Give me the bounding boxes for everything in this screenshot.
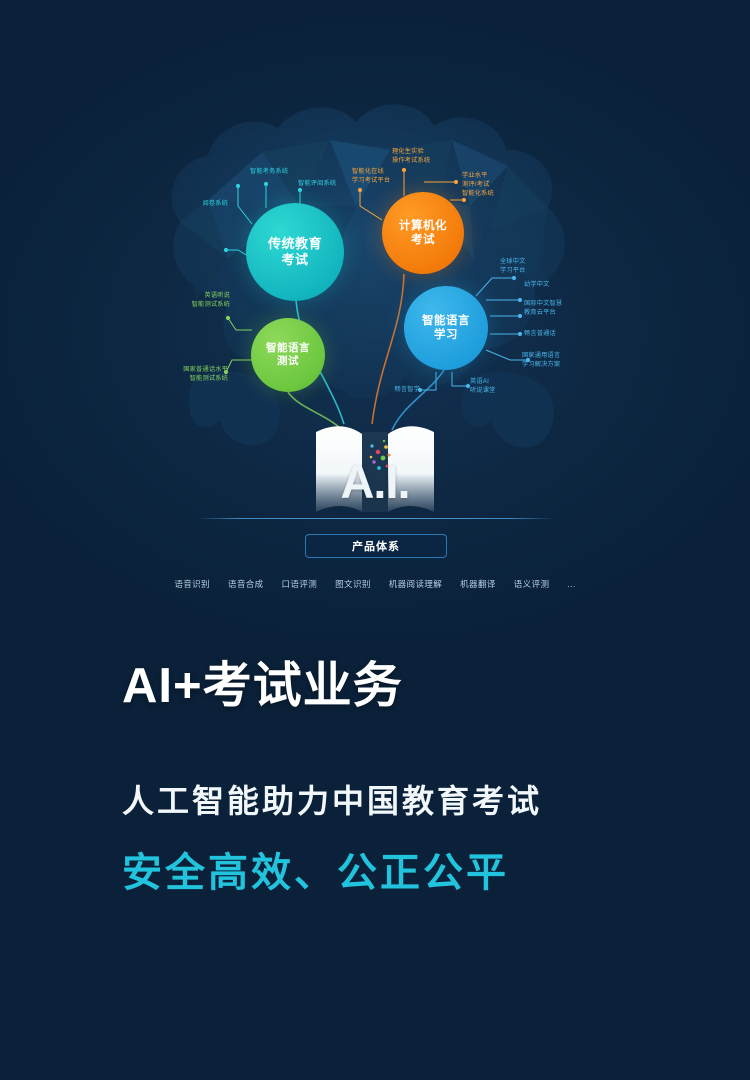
bubble-smart-language-learning-line1: 智能语言	[422, 314, 470, 328]
leaf-label-language-learning-2[interactable]: 国际中文智慧 教育云平台	[524, 300, 562, 318]
leaf-label-traditional-0[interactable]: 阅卷系统	[192, 200, 228, 209]
leaf-label-language-learning-1[interactable]: 幼学中文	[524, 281, 550, 290]
poster-canvas: 传统教育 考试 计算机化 考试 智能语言 学习 智能语言 测试 阅卷系统 智能考…	[0, 0, 750, 1080]
page-title: AI+考试业务	[122, 660, 750, 714]
bubble-traditional-exam-line2: 考试	[281, 252, 308, 268]
bubble-smart-language-testing-line2: 测试	[277, 355, 299, 368]
brain-infographic: 传统教育 考试 计算机化 考试 智能语言 学习 智能语言 测试 阅卷系统 智能考…	[0, 0, 750, 640]
leaf-label-language-learning-0[interactable]: 全球中文 学习平台	[500, 258, 526, 276]
tag-5[interactable]: 机器翻译	[460, 578, 496, 590]
leaf-label-computerized-0[interactable]: 智能化在线 学习考试平台	[352, 168, 390, 186]
bubble-smart-language-learning-line2: 学习	[434, 328, 458, 342]
subtitle-primary: 人工智能助力中国教育考试	[122, 776, 750, 822]
tag-3[interactable]: 图文识别	[335, 578, 371, 590]
tag-6[interactable]: 语义评测	[514, 578, 550, 590]
bubble-computerized-exam-line2: 考试	[411, 233, 435, 247]
leaf-label-language-learning-4[interactable]: 国家通用语言 学习解决方案	[522, 352, 560, 370]
bubble-traditional-exam[interactable]: 传统教育 考试	[246, 203, 344, 301]
bubble-computerized-exam[interactable]: 计算机化 考试	[382, 192, 464, 274]
tag-4[interactable]: 机器阅读理解	[389, 578, 442, 590]
tag-0[interactable]: 语音识别	[174, 578, 210, 590]
leaf-label-traditional-2[interactable]: 智能评阅系统	[298, 180, 336, 189]
leaf-label-traditional-1[interactable]: 智能考务系统	[250, 168, 288, 177]
product-system-badge[interactable]: 产品体系	[305, 534, 447, 558]
bubble-smart-language-testing[interactable]: 智能语言 测试	[251, 318, 325, 392]
section-divider	[196, 518, 554, 519]
bubble-traditional-exam-line1: 传统教育	[268, 236, 322, 252]
leaf-label-language-learning-5[interactable]: 畅言智学	[386, 386, 420, 395]
leaf-label-language-testing-0[interactable]: 英语听说 智能测试系统	[178, 292, 230, 310]
tag-2[interactable]: 口语评测	[282, 578, 318, 590]
tag-7[interactable]: ...	[567, 579, 575, 589]
bubble-smart-language-testing-line1: 智能语言	[266, 342, 310, 355]
leaf-label-language-learning-3[interactable]: 畅言普通话	[524, 330, 556, 339]
bubble-computerized-exam-line1: 计算机化	[399, 219, 447, 233]
copy-block: AI+考试业务 人工智能助力中国教育考试 安全高效、公正公平	[0, 660, 750, 898]
capability-tag-row: 语音识别 语音合成 口语评测 图文识别 机器阅读理解 机器翻译 语义评测 ...	[0, 578, 750, 590]
ai-wordmark-wrap: A.I.	[313, 420, 437, 520]
leaf-label-computerized-2[interactable]: 学业水平 测评/考试 智能化系统	[462, 172, 494, 199]
leaf-label-computerized-1[interactable]: 理化生实验 操作考试系统	[392, 148, 430, 166]
leaf-label-language-learning-6[interactable]: 英语AI 听说课堂	[470, 378, 496, 396]
leaf-label-language-testing-1[interactable]: 国家普通话水平 智能测试系统	[168, 366, 228, 384]
ai-wordmark: A.I.	[313, 454, 437, 509]
tag-1[interactable]: 语音合成	[228, 578, 264, 590]
bubble-smart-language-learning[interactable]: 智能语言 学习	[404, 286, 488, 370]
subtitle-accent: 安全高效、公正公平	[122, 840, 750, 898]
